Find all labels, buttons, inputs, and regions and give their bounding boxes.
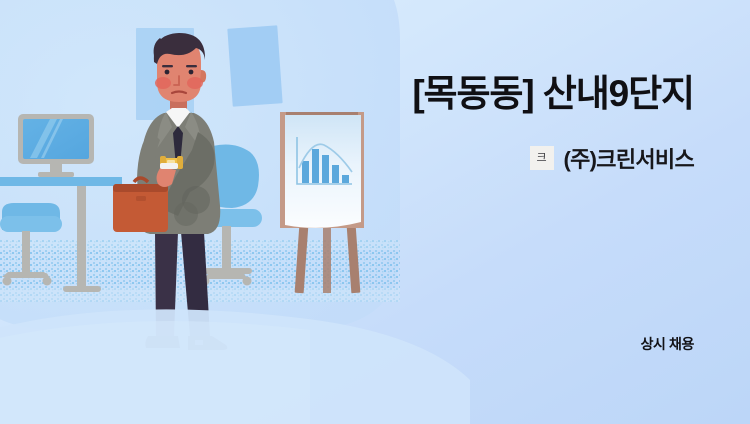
office-illustration — [0, 0, 750, 424]
job-posting-card: [목동동] 산내9단지 크 (주)크린서비스 상시 채용 — [0, 0, 750, 424]
poster-right-icon — [227, 25, 282, 106]
briefcase-icon — [113, 178, 168, 232]
head — [154, 33, 207, 102]
floor-highlight — [0, 321, 310, 424]
